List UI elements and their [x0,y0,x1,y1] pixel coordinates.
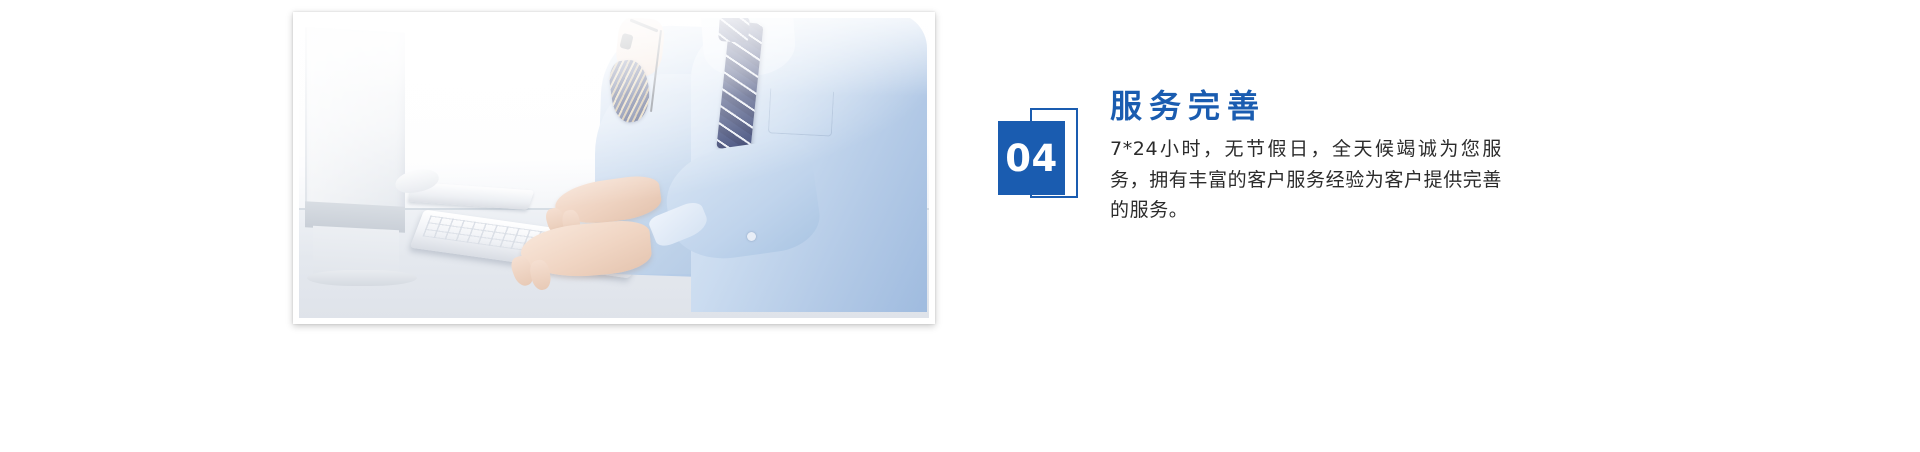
step-number: 04 [1005,140,1058,177]
office-photo [299,18,929,318]
badge-filled-square: 04 [998,121,1065,195]
feature-text-column: 服务完善 7*24小时，无节假日，全天候竭诚为您服务，拥有丰富的客户服务经验为客… [1110,88,1502,226]
feature-headline: 服务完善 [1110,88,1502,126]
monitor-screen-icon [305,27,405,215]
shirt-button [747,232,756,241]
monitor-base [307,270,417,286]
necktie-knot [718,18,750,43]
feature-description: 7*24小时，无节假日，全天候竭诚为您服务，拥有丰富的客户服务经验为客户提供完善… [1110,134,1502,226]
feature-content: 04 服务完善 7*24小时，无节假日，全天候竭诚为您服务，拥有丰富的客户服务经… [998,88,1502,226]
shirt-pocket [768,88,834,136]
step-number-badge: 04 [998,108,1088,220]
photo-frame [293,12,935,324]
feature-section-04: 04 服务完善 7*24小时，无节假日，全天候竭诚为您服务，拥有丰富的客户服务经… [0,0,1920,452]
